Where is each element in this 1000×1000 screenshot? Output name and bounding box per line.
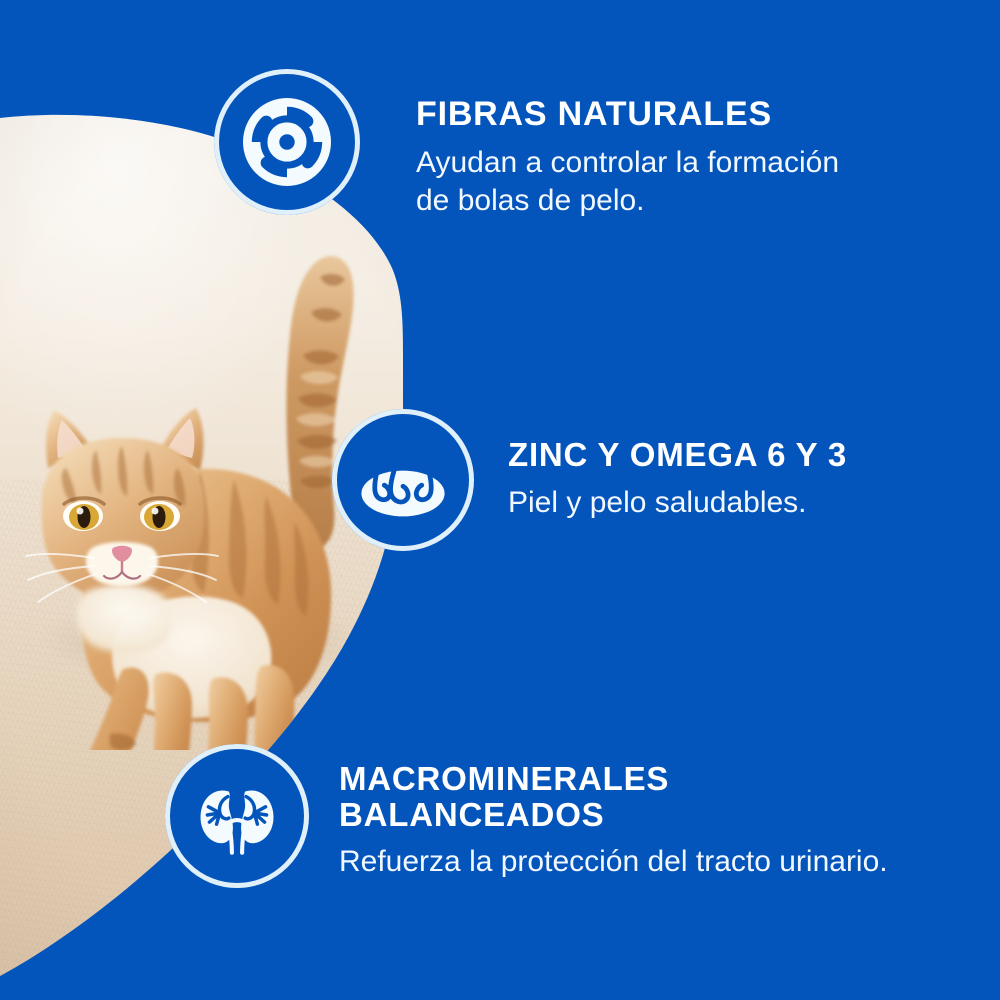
fiber-swirl-icon [214,69,360,215]
feature-description: Ayudan a controlar la formación de bolas… [416,144,839,221]
feature-description: Refuerza la protección del tracto urinar… [339,843,888,881]
feature-title: MACROMINERALES BALANCEADOS [339,761,888,832]
feature-text-block: FIBRAS NATURALES Ayudan a controlar la f… [416,96,839,221]
hair-follicle-glyph [351,428,455,532]
feature-fibras-naturales: FIBRAS NATURALES Ayudan a controlar la f… [214,69,839,221]
kidneys-glyph [186,765,288,867]
feature-description: Piel y pelo saludables. [508,484,847,522]
feature-macrominerales: MACROMINERALES BALANCEADOS Refuerza la p… [165,744,888,888]
feature-zinc-omega: ZINC Y OMEGA 6 Y 3 Piel y pelo saludable… [332,409,847,551]
feature-text-block: MACROMINERALES BALANCEADOS Refuerza la p… [339,761,888,882]
kidneys-icon [165,744,309,888]
hair-follicle-icon [332,409,474,551]
feature-title: ZINC Y OMEGA 6 Y 3 [508,437,847,473]
feature-title: FIBRAS NATURALES [416,96,839,133]
product-benefits-infographic: FIBRAS NATURALES Ayudan a controlar la f… [0,0,1000,1000]
feature-text-block: ZINC Y OMEGA 6 Y 3 Piel y pelo saludable… [508,437,847,522]
fiber-swirl-glyph [232,87,342,197]
